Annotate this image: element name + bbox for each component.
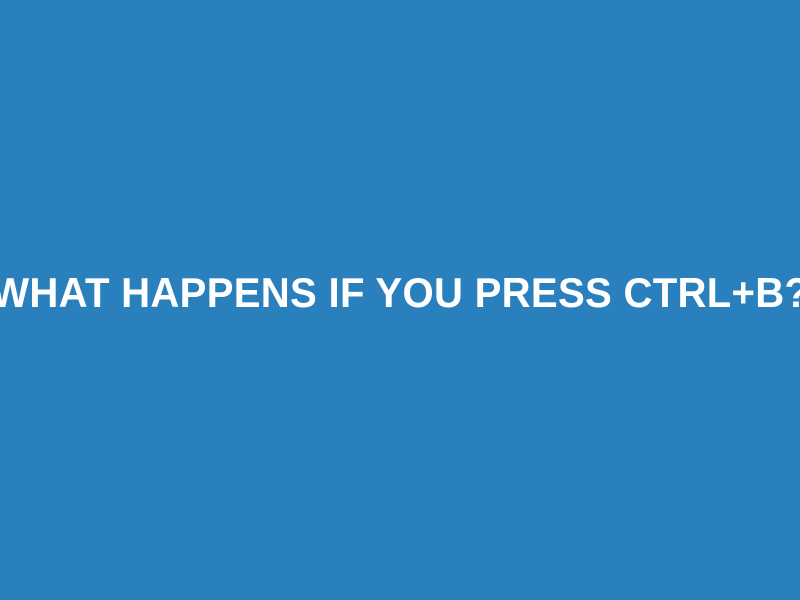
page-title: WHAT HAPPENS IF YOU PRESS CTRL+B? — [0, 271, 800, 315]
title-card: WHAT HAPPENS IF YOU PRESS CTRL+B? — [0, 0, 800, 600]
headline-container: WHAT HAPPENS IF YOU PRESS CTRL+B? — [0, 263, 800, 323]
